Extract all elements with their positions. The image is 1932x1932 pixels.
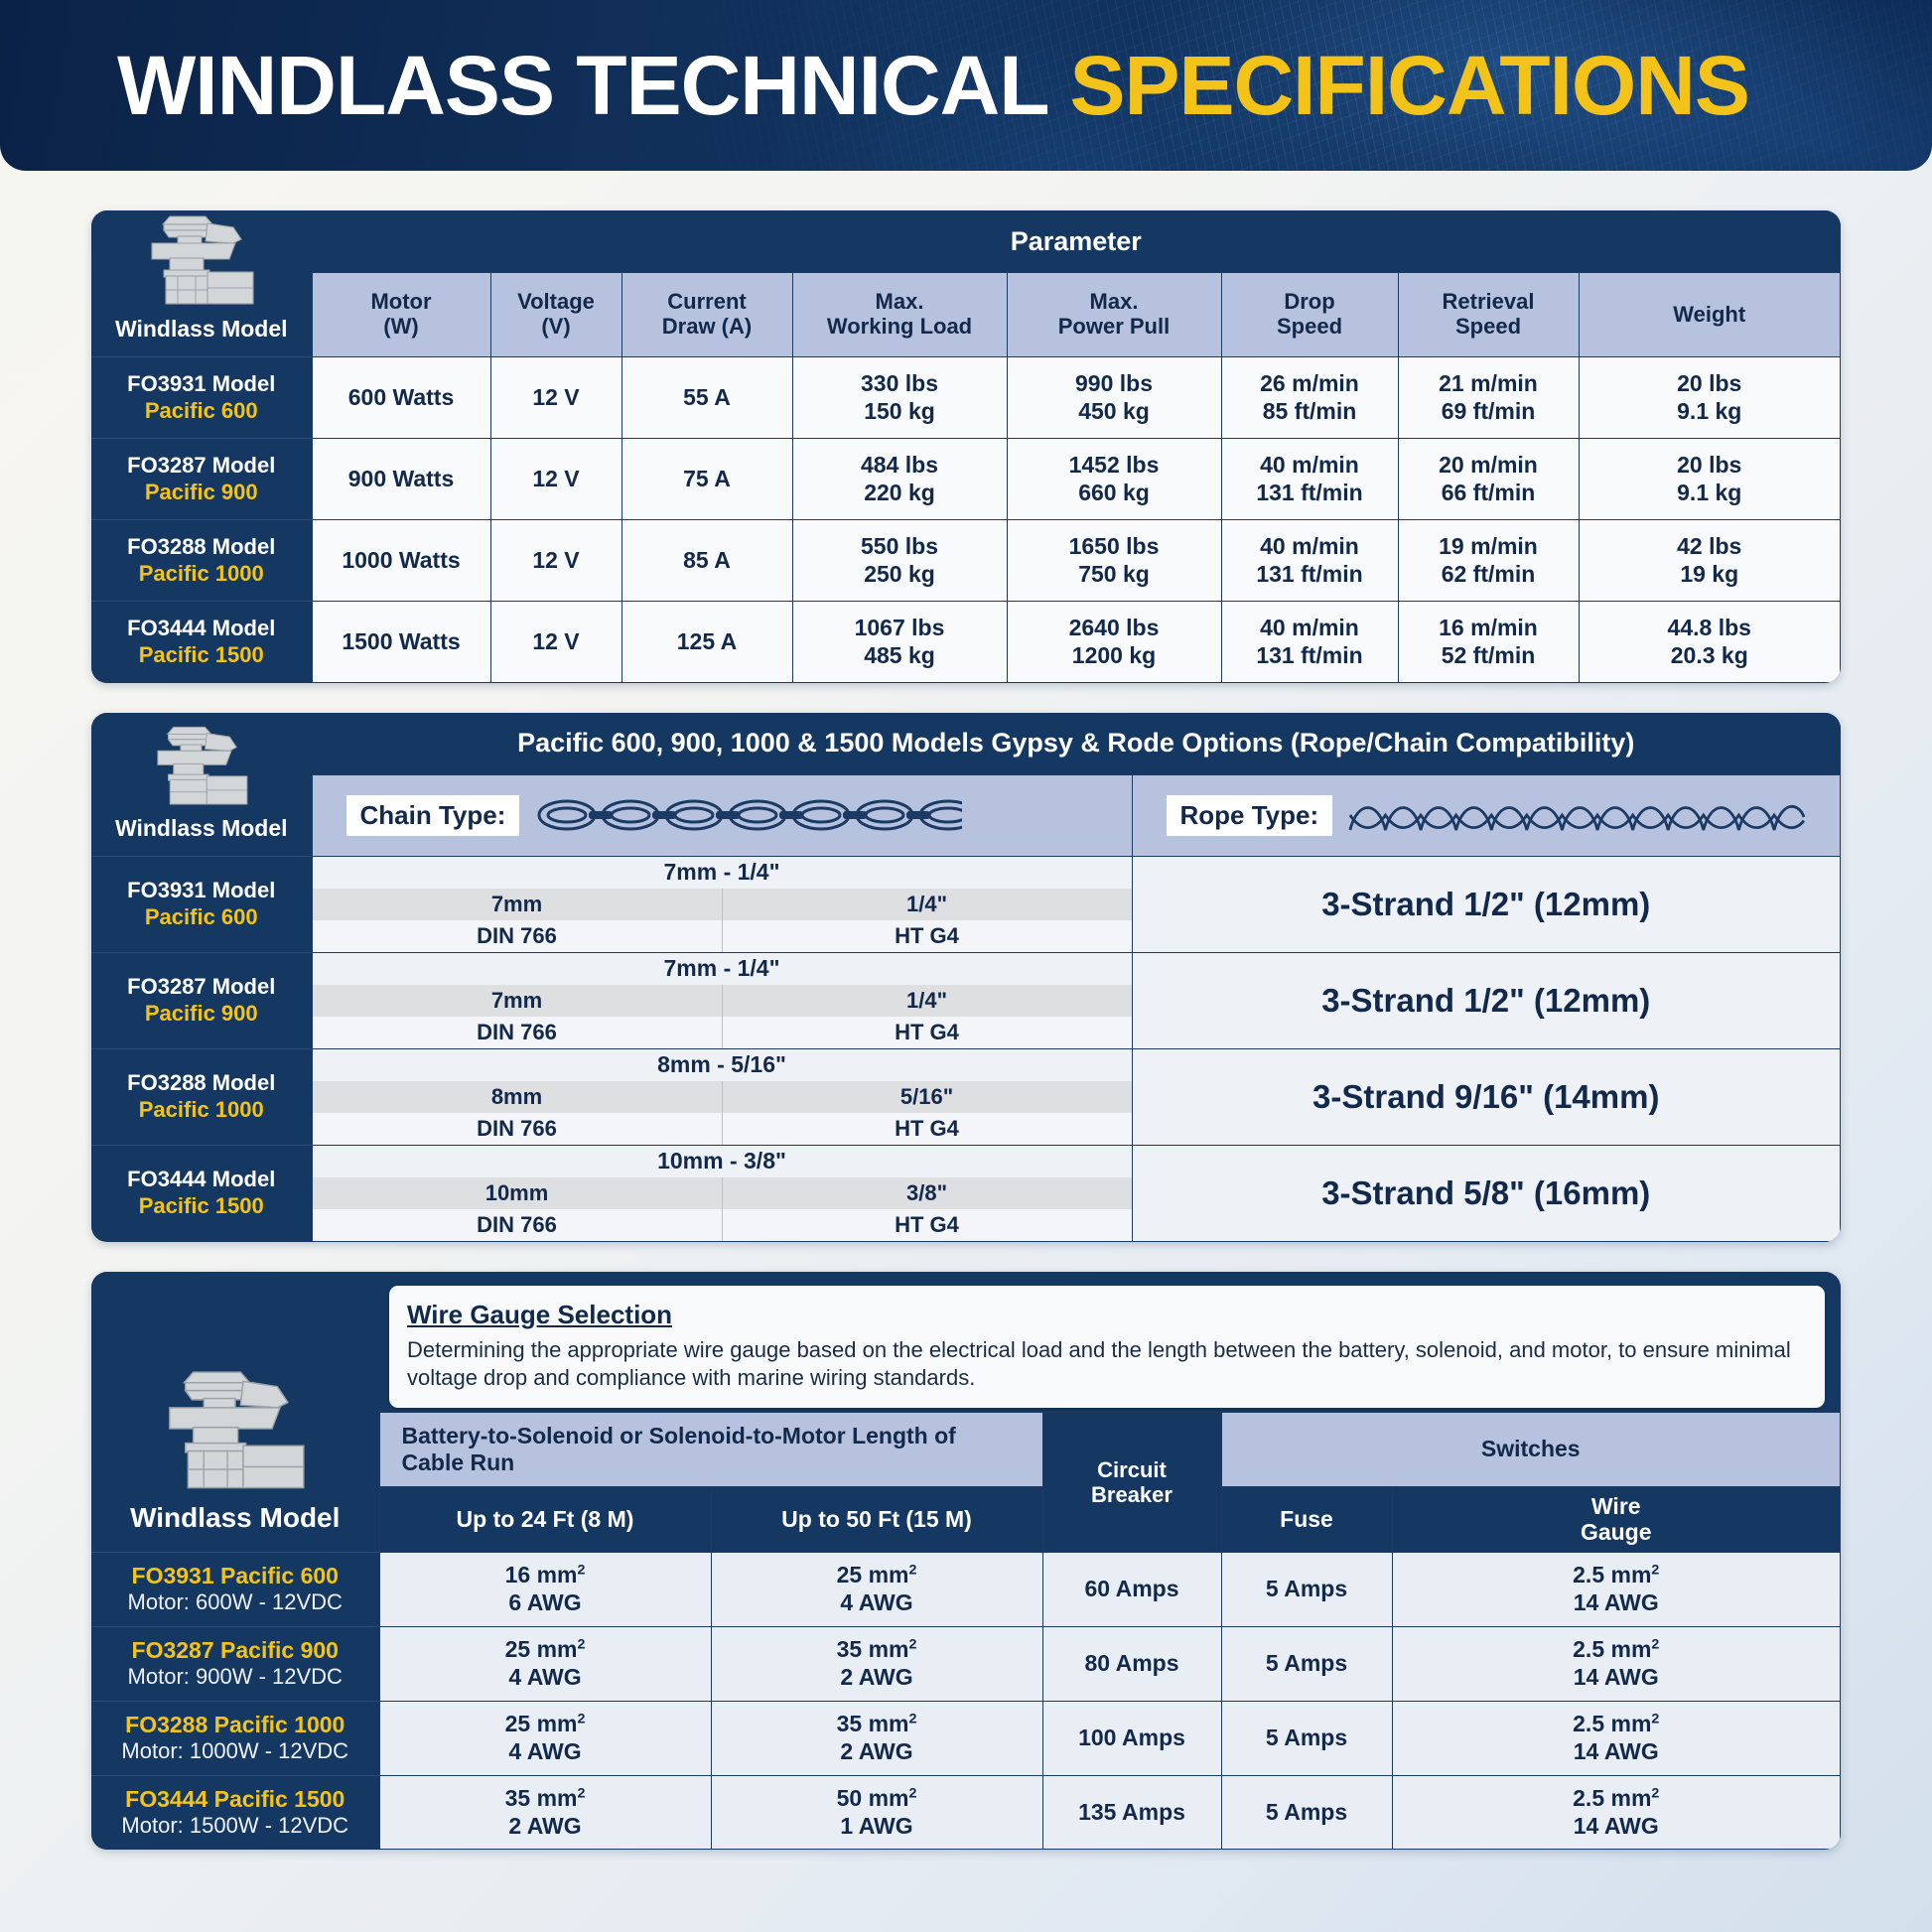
chain-options-subtable: 7mm - 1/4"7mm1/4"DIN 766HT G4	[313, 953, 1132, 1048]
column-header: Motor(W)	[312, 273, 490, 357]
chain-standard-metric: DIN 766	[313, 1113, 723, 1145]
square-superscript: 2	[908, 1712, 916, 1727]
windlass-icon	[142, 720, 261, 815]
table-row: FO3444 ModelPacific 15001500 Watts12 V12…	[91, 602, 1841, 683]
model-code: FO3288 Model	[127, 534, 275, 559]
table-row: FO3931 ModelPacific 600600 Watts12 V55 A…	[91, 357, 1841, 439]
wire-gauge-note: Wire Gauge Selection Determining the app…	[389, 1286, 1825, 1408]
voltage-cell: 12 V	[490, 602, 621, 683]
column-header: Voltage(V)	[490, 273, 621, 357]
current-draw-cell: 55 A	[621, 357, 792, 439]
chain-type-label: Chain Type:	[346, 795, 520, 836]
table-header-row: Motor(W)Voltage(V)CurrentDraw (A)Max.Wor…	[91, 273, 1841, 357]
chain-options-cell: 7mm - 1/4"7mm1/4"DIN 766HT G4	[312, 856, 1132, 952]
fuse-cell: 5 Amps	[1221, 1775, 1392, 1849]
chain-options-cell: 7mm - 1/4"7mm1/4"DIN 766HT G4	[312, 952, 1132, 1048]
table-row: FO3288 ModelPacific 10008mm - 5/16"8mm5/…	[91, 1048, 1841, 1145]
model-code: FO3931 Model	[127, 878, 275, 902]
retrieval-speed-cell: 20 m/min66 ft/min	[1398, 439, 1579, 520]
model-motor-spec: Motor: 600W - 12VDC	[97, 1589, 373, 1615]
windlass-model-header-label: Windlass Model	[91, 316, 312, 343]
column-header-line1: Weight	[1673, 302, 1745, 327]
rope-option-cell: 3-Strand 1/2" (12mm)	[1132, 856, 1841, 952]
square-superscript: 2	[1651, 1785, 1659, 1801]
table-row: FO3287 ModelPacific 9007mm - 1/4"7mm1/4"…	[91, 952, 1841, 1048]
wire-gauge-note-cell: Wire Gauge Selection Determining the app…	[379, 1272, 1841, 1413]
cable-run-50ft-cell: 35 mm22 AWG	[711, 1626, 1042, 1701]
column-header-line1: Max.	[876, 289, 924, 314]
model-name: Pacific 1000	[139, 561, 264, 586]
column-header-line1: Drop	[1284, 289, 1334, 314]
gypsy-rode-title: Pacific 600, 900, 1000 & 1500 Models Gyp…	[312, 713, 1841, 774]
chain-size-range: 7mm - 1/4"	[313, 953, 1132, 985]
chain-size-range-row: 7mm - 1/4"	[313, 953, 1132, 985]
model-name: Pacific 1000	[139, 1097, 264, 1122]
max-power-pull-cell: 1452 lbs660 kg	[1007, 439, 1221, 520]
chain-size-range: 8mm - 5/16"	[313, 1049, 1132, 1081]
weight-cell: 42 lbs19 kg	[1579, 520, 1841, 602]
table-row: Windlass Model Pacific 600, 900, 1000 & …	[91, 713, 1841, 774]
circuit-breaker-header-line2: Breaker	[1091, 1482, 1173, 1507]
motor-cell: 900 Watts	[312, 439, 490, 520]
rope-option-cell: 3-Strand 9/16" (14mm)	[1132, 1048, 1841, 1145]
column-header: DropSpeed	[1221, 273, 1398, 357]
max-working-load-cell: 484 lbs220 kg	[792, 439, 1007, 520]
chain-standard-metric: DIN 766	[313, 920, 723, 952]
model-cell: FO3288 ModelPacific 1000	[91, 1048, 312, 1145]
model-cell: FO3444 ModelPacific 1500	[91, 602, 312, 683]
specifications-table-card: Windlass Model Parameter Motor(W)Voltage…	[91, 210, 1841, 683]
current-draw-cell: 75 A	[621, 439, 792, 520]
square-superscript: 2	[1651, 1637, 1659, 1653]
chain-size-metric: 10mm	[313, 1177, 723, 1209]
wire-gauge-note-body: Determining the appropriate wire gauge b…	[407, 1336, 1807, 1392]
weight-cell: 20 lbs9.1 kg	[1579, 357, 1841, 439]
weight-cell: 44.8 lbs20.3 kg	[1579, 602, 1841, 683]
switch-wire-gauge-cell: 2.5 mm214 AWG	[1392, 1552, 1841, 1626]
model-cell: FO3288 ModelPacific 1000	[91, 520, 312, 602]
windlass-model-header-cell: Windlass Model	[91, 210, 312, 357]
specifications-table: Windlass Model Parameter Motor(W)Voltage…	[91, 210, 1841, 683]
square-superscript: 2	[908, 1563, 916, 1579]
chain-standard-row: DIN 766HT G4	[313, 1017, 1132, 1048]
chain-size-metric: 7mm	[313, 889, 723, 920]
content-wrapper: Windlass Model Parameter Motor(W)Voltage…	[0, 210, 1932, 1850]
column-header-line1: Current	[667, 289, 746, 314]
model-cell: FO3931 Pacific 600Motor: 600W - 12VDC	[91, 1552, 379, 1626]
table-row: FO3287 Pacific 900Motor: 900W - 12VDC25 …	[91, 1626, 1841, 1701]
column-header-line2: Working Load	[827, 314, 972, 339]
chain-standard-imperial: HT G4	[722, 1017, 1132, 1048]
motor-cell: 600 Watts	[312, 357, 490, 439]
current-draw-cell: 125 A	[621, 602, 792, 683]
chain-standard-row: DIN 766HT G4	[313, 920, 1132, 952]
chain-size-range-row: 7mm - 1/4"	[313, 857, 1132, 889]
chain-size-row: 7mm1/4"	[313, 985, 1132, 1017]
chain-size-row: 10mm3/8"	[313, 1177, 1132, 1209]
table-row: FO3444 Pacific 1500Motor: 1500W - 12VDC3…	[91, 1775, 1841, 1849]
parameter-group-header: Parameter	[312, 210, 1841, 273]
cable-run-50ft-cell: 25 mm24 AWG	[711, 1552, 1042, 1626]
model-motor-spec: Motor: 900W - 12VDC	[97, 1664, 373, 1690]
table-row: Windlass Model Wire Gauge Selection Dete…	[91, 1272, 1841, 1413]
cable-run-24ft-cell: 25 mm24 AWG	[379, 1701, 711, 1775]
rope-type-header-cell: Rope Type:	[1132, 774, 1841, 856]
gypsy-rode-table: Windlass Model Pacific 600, 900, 1000 & …	[91, 713, 1841, 1242]
chain-standard-imperial: HT G4	[722, 1209, 1132, 1241]
circuit-breaker-header: Circuit Breaker	[1042, 1412, 1221, 1552]
model-cell: FO3287 ModelPacific 900	[91, 952, 312, 1048]
column-header-line1: Retrieval	[1443, 289, 1535, 314]
windlass-icon	[134, 210, 269, 314]
chain-options-subtable: 10mm - 3/8"10mm3/8"DIN 766HT G4	[313, 1146, 1132, 1241]
switches-group-header: Switches	[1221, 1412, 1841, 1486]
page-banner: WINDLASS TECHNICAL SPECIFICATIONS	[0, 0, 1932, 171]
cable-run-24ft-cell: 35 mm22 AWG	[379, 1775, 711, 1849]
chain-options-subtable: 7mm - 1/4"7mm1/4"DIN 766HT G4	[313, 857, 1132, 952]
column-header-line2: Speed	[1277, 314, 1342, 339]
table-row: FO3288 Pacific 1000Motor: 1000W - 12VDC2…	[91, 1701, 1841, 1775]
weight-cell: 20 lbs9.1 kg	[1579, 439, 1841, 520]
chain-size-imperial: 3/8"	[722, 1177, 1132, 1209]
square-superscript: 2	[577, 1712, 585, 1727]
rope-option-cell: 3-Strand 5/8" (16mm)	[1132, 1145, 1841, 1241]
model-name: Pacific 600	[145, 398, 258, 423]
chain-size-imperial: 1/4"	[722, 985, 1132, 1017]
circuit-breaker-header-line1: Circuit	[1097, 1457, 1167, 1482]
wire-gauge-note-title: Wire Gauge Selection	[407, 1300, 1807, 1330]
chain-options-cell: 8mm - 5/16"8mm5/16"DIN 766HT G4	[312, 1048, 1132, 1145]
retrieval-speed-cell: 19 m/min62 ft/min	[1398, 520, 1579, 602]
max-working-load-cell: 550 lbs250 kg	[792, 520, 1007, 602]
column-header-line1: Max.	[1090, 289, 1139, 314]
retrieval-speed-cell: 21 m/min69 ft/min	[1398, 357, 1579, 439]
drop-speed-cell: 40 m/min131 ft/min	[1221, 520, 1398, 602]
switch-wire-gauge-cell: 2.5 mm214 AWG	[1392, 1775, 1841, 1849]
column-header-line1: Voltage	[517, 289, 595, 314]
max-working-load-cell: 1067 lbs485 kg	[792, 602, 1007, 683]
windlass-icon	[146, 1363, 325, 1502]
model-name: Pacific 900	[145, 480, 258, 504]
max-power-pull-cell: 990 lbs450 kg	[1007, 357, 1221, 439]
model-cell: FO3287 ModelPacific 900	[91, 439, 312, 520]
page-title-primary: WINDLASS TECHNICAL	[117, 39, 1047, 132]
model-code: FO3444 Model	[127, 1167, 275, 1191]
chain-options-cell: 10mm - 3/8"10mm3/8"DIN 766HT G4	[312, 1145, 1132, 1241]
model-cell: FO3288 Pacific 1000Motor: 1000W - 12VDC	[91, 1701, 379, 1775]
cable-run-24ft-cell: 16 mm26 AWG	[379, 1552, 711, 1626]
model-name: Pacific 600	[145, 904, 258, 929]
model-code: FO3287 Model	[127, 974, 275, 999]
wire-gauge-table: Windlass Model Wire Gauge Selection Dete…	[91, 1272, 1841, 1851]
cable-run-24ft-cell: 25 mm24 AWG	[379, 1626, 711, 1701]
chain-size-metric: 7mm	[313, 985, 723, 1017]
square-superscript: 2	[577, 1563, 585, 1579]
cable-run-50ft-header: Up to 50 Ft (15 M)	[711, 1486, 1042, 1552]
column-header-line2: (V)	[541, 314, 570, 339]
column-header-line2: (W)	[383, 314, 418, 339]
circuit-breaker-cell: 135 Amps	[1042, 1775, 1221, 1849]
chain-size-imperial: 5/16"	[722, 1081, 1132, 1113]
column-header-line1: Motor	[370, 289, 431, 314]
table-row: FO3931 Pacific 600Motor: 600W - 12VDC16 …	[91, 1552, 1841, 1626]
page-title: WINDLASS TECHNICAL SPECIFICATIONS	[0, 44, 1749, 127]
fuse-cell: 5 Amps	[1221, 1552, 1392, 1626]
max-power-pull-cell: 1650 lbs750 kg	[1007, 520, 1221, 602]
rope-icon	[1348, 793, 1806, 837]
max-working-load-cell: 330 lbs150 kg	[792, 357, 1007, 439]
chain-size-imperial: 1/4"	[722, 889, 1132, 920]
model-name: Pacific 1500	[139, 1193, 264, 1218]
chain-standard-row: DIN 766HT G4	[313, 1209, 1132, 1241]
column-header-line2: Draw (A)	[662, 314, 752, 339]
chain-icon	[535, 794, 962, 836]
model-cell: FO3444 ModelPacific 1500	[91, 1145, 312, 1241]
circuit-breaker-cell: 100 Amps	[1042, 1701, 1221, 1775]
model-name: FO3444 Pacific 1500	[97, 1786, 373, 1814]
table-row: FO3931 ModelPacific 6007mm - 1/4"7mm1/4"…	[91, 856, 1841, 952]
column-header: RetrievalSpeed	[1398, 273, 1579, 357]
motor-cell: 1000 Watts	[312, 520, 490, 602]
chain-standard-imperial: HT G4	[722, 920, 1132, 952]
square-superscript: 2	[908, 1785, 916, 1801]
column-header: Max.Working Load	[792, 273, 1007, 357]
column-header: Weight	[1579, 273, 1841, 357]
square-superscript: 2	[577, 1785, 585, 1801]
windlass-model-header-cell: Windlass Model	[91, 713, 312, 856]
table-row: FO3444 ModelPacific 150010mm - 3/8"10mm3…	[91, 1145, 1841, 1241]
model-code: FO3287 Model	[127, 453, 275, 478]
square-superscript: 2	[577, 1637, 585, 1653]
table-row: Windlass Model Parameter	[91, 210, 1841, 273]
square-superscript: 2	[1651, 1712, 1659, 1727]
rope-type-label: Rope Type:	[1167, 795, 1333, 836]
chain-standard-metric: DIN 766	[313, 1209, 723, 1241]
chain-standard-metric: DIN 766	[313, 1017, 723, 1048]
column-header: Max.Power Pull	[1007, 273, 1221, 357]
drop-speed-cell: 26 m/min85 ft/min	[1221, 357, 1398, 439]
cable-run-24ft-header: Up to 24 Ft (8 M)	[379, 1486, 711, 1552]
windlass-model-header-label: Windlass Model	[91, 1502, 379, 1534]
chain-size-metric: 8mm	[313, 1081, 723, 1113]
chain-standard-imperial: HT G4	[722, 1113, 1132, 1145]
cable-run-50ft-cell: 50 mm21 AWG	[711, 1775, 1042, 1849]
max-power-pull-cell: 2640 lbs1200 kg	[1007, 602, 1221, 683]
chain-standard-row: DIN 766HT G4	[313, 1113, 1132, 1145]
model-name: FO3287 Pacific 900	[97, 1637, 373, 1665]
wire-gauge-card: Windlass Model Wire Gauge Selection Dete…	[91, 1272, 1841, 1851]
cable-run-50ft-cell: 35 mm22 AWG	[711, 1701, 1042, 1775]
windlass-model-header-label: Windlass Model	[91, 815, 312, 842]
chain-size-range-row: 8mm - 5/16"	[313, 1049, 1132, 1081]
chain-size-row: 7mm1/4"	[313, 889, 1132, 920]
square-superscript: 2	[1651, 1563, 1659, 1579]
model-name: FO3931 Pacific 600	[97, 1563, 373, 1590]
model-name: Pacific 1500	[139, 642, 264, 667]
page-title-accent: SPECIFICATIONS	[1069, 39, 1749, 132]
voltage-cell: 12 V	[490, 357, 621, 439]
model-name: FO3288 Pacific 1000	[97, 1712, 373, 1739]
column-header-line2: Power Pull	[1058, 314, 1170, 339]
switch-wire-gauge-header: Wire Gauge	[1392, 1486, 1841, 1552]
cable-run-group-header: Battery-to-Solenoid or Solenoid-to-Motor…	[379, 1412, 1042, 1486]
model-code: FO3444 Model	[127, 616, 275, 640]
model-code: FO3931 Model	[127, 371, 275, 396]
retrieval-speed-cell: 16 m/min52 ft/min	[1398, 602, 1579, 683]
table-row: FO3288 ModelPacific 10001000 Watts12 V85…	[91, 520, 1841, 602]
model-cell: FO3444 Pacific 1500Motor: 1500W - 12VDC	[91, 1775, 379, 1849]
voltage-cell: 12 V	[490, 439, 621, 520]
column-header: CurrentDraw (A)	[621, 273, 792, 357]
model-cell: FO3931 ModelPacific 600	[91, 357, 312, 439]
model-motor-spec: Motor: 1500W - 12VDC	[97, 1813, 373, 1839]
fuse-header: Fuse	[1221, 1486, 1392, 1552]
chain-type-header-cell: Chain Type:	[312, 774, 1132, 856]
model-name: Pacific 900	[145, 1001, 258, 1026]
circuit-breaker-cell: 60 Amps	[1042, 1552, 1221, 1626]
drop-speed-cell: 40 m/min131 ft/min	[1221, 439, 1398, 520]
chain-size-row: 8mm5/16"	[313, 1081, 1132, 1113]
switch-wire-gauge-header-line1: Wire	[1591, 1493, 1641, 1519]
table-header-row: Chain Type:	[91, 774, 1841, 856]
drop-speed-cell: 40 m/min131 ft/min	[1221, 602, 1398, 683]
switch-wire-gauge-header-line2: Gauge	[1581, 1519, 1652, 1545]
gypsy-rode-options-card: Windlass Model Pacific 600, 900, 1000 & …	[91, 713, 1841, 1242]
switch-wire-gauge-cell: 2.5 mm214 AWG	[1392, 1701, 1841, 1775]
fuse-cell: 5 Amps	[1221, 1701, 1392, 1775]
current-draw-cell: 85 A	[621, 520, 792, 602]
square-superscript: 2	[908, 1637, 916, 1653]
switch-wire-gauge-cell: 2.5 mm214 AWG	[1392, 1626, 1841, 1701]
column-header-line2: Speed	[1455, 314, 1521, 339]
chain-size-range: 10mm - 3/8"	[313, 1146, 1132, 1177]
windlass-model-header-cell: Windlass Model	[91, 1272, 379, 1553]
model-cell: FO3931 ModelPacific 600	[91, 856, 312, 952]
table-row: FO3287 ModelPacific 900900 Watts12 V75 A…	[91, 439, 1841, 520]
chain-size-range: 7mm - 1/4"	[313, 857, 1132, 889]
model-cell: FO3287 Pacific 900Motor: 900W - 12VDC	[91, 1626, 379, 1701]
model-code: FO3288 Model	[127, 1070, 275, 1095]
circuit-breaker-cell: 80 Amps	[1042, 1626, 1221, 1701]
chain-size-range-row: 10mm - 3/8"	[313, 1146, 1132, 1177]
model-motor-spec: Motor: 1000W - 12VDC	[97, 1738, 373, 1764]
fuse-cell: 5 Amps	[1221, 1626, 1392, 1701]
chain-options-subtable: 8mm - 5/16"8mm5/16"DIN 766HT G4	[313, 1049, 1132, 1145]
motor-cell: 1500 Watts	[312, 602, 490, 683]
voltage-cell: 12 V	[490, 520, 621, 602]
rope-option-cell: 3-Strand 1/2" (12mm)	[1132, 952, 1841, 1048]
